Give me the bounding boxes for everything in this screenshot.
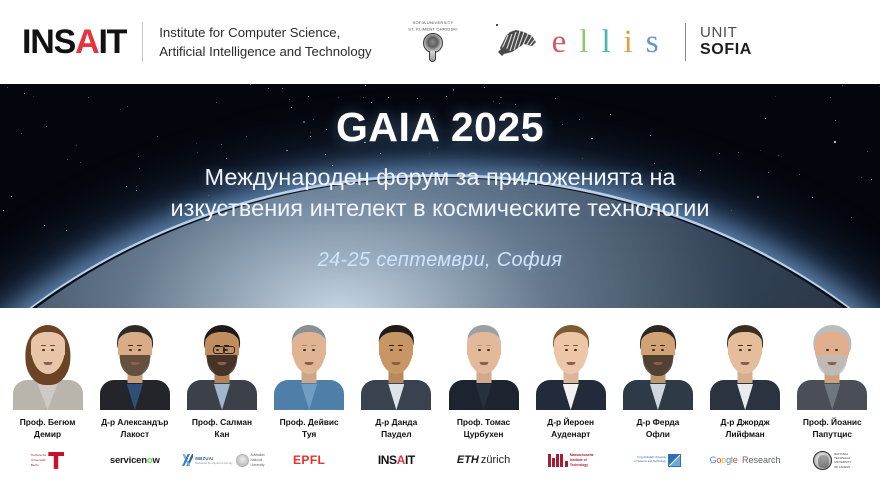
speaker-affiliations: MBZUAIMohamed bin Zayed UniversityAustra…	[179, 447, 265, 473]
speaker-photo	[620, 314, 696, 410]
event-subtitle: Международен форум за приложенията на из…	[0, 162, 880, 224]
speaker-photo	[533, 314, 609, 410]
ellis-logo: e l l i s	[490, 22, 659, 62]
speaker-name: Проф. Йоанис Папутцис	[803, 416, 862, 440]
insait-wordmark-part1: INS	[22, 23, 75, 61]
speaker-name: Д-р Джордж Лийфман	[721, 416, 770, 440]
speaker-affiliations: INSAIT	[353, 447, 439, 473]
ellis-letter-1: l	[579, 26, 588, 59]
speaker-photo	[10, 314, 86, 410]
speaker-name: Проф. Салман Кан	[192, 416, 252, 440]
header-logo-bar: INSAIT Institute for Computer Science, A…	[0, 0, 880, 84]
portrait-illustration	[446, 314, 522, 410]
portrait-illustration	[707, 314, 783, 410]
speaker-affiliations: King Abdullah Universityof Science and T…	[615, 447, 701, 473]
affiliation-logo-anu: AustralianNationalUniversity	[236, 453, 265, 467]
portrait-illustration	[271, 314, 347, 410]
speaker-name: Д-р Данда Паудел	[375, 416, 417, 440]
portrait-illustration	[794, 314, 870, 410]
affiliation-logo-servicenow: servicenow	[110, 455, 160, 466]
event-title: GAIA 2025	[0, 104, 880, 151]
insait-wordmark: INSAIT	[22, 25, 126, 59]
ellis-letter-3: i	[624, 26, 633, 59]
portrait-illustration	[358, 314, 434, 410]
unit-sofia-logo: UNIT SOFIA	[685, 23, 752, 61]
portrait-illustration	[620, 314, 696, 410]
speaker-name: Проф. Бегюм Демир	[20, 416, 76, 440]
speaker-affiliations: servicenow	[92, 447, 178, 473]
affiliation-logo-google: GoogleResearch	[710, 455, 781, 465]
ellis-wordmark: e l l i s	[552, 26, 659, 59]
insait-tagline: Institute for Computer Science, Artifici…	[159, 23, 371, 61]
speaker-photo	[446, 314, 522, 410]
speaker-name: Проф. Дейвис Туя	[280, 416, 339, 440]
sofia-university-logo: SOFIA UNIVERSITY ST. KLIMENT OHRIDSKI	[402, 21, 464, 63]
speaker-card: Д-р Джордж ЛийфманGoogleResearch	[702, 308, 789, 494]
sofia-university-name: SOFIA UNIVERSITY ST. KLIMENT OHRIDSKI	[408, 21, 457, 33]
insait-wordmark-part3: IT	[98, 23, 126, 61]
affiliation-logo-epfl: EPFL	[293, 453, 325, 467]
speaker-card: Д-р Данда ПауделINSAIT	[353, 308, 440, 494]
speaker-row: Проф. Бегюм ДемирTechnischeUniversitätBe…	[0, 308, 880, 494]
speaker-photo	[358, 314, 434, 410]
event-poster: INSAIT Institute for Computer Science, A…	[0, 0, 880, 494]
event-banner: GAIA 2025 Международен форум за приложен…	[0, 84, 880, 308]
ellis-letter-0: e	[552, 26, 567, 59]
speaker-card: Проф. Бегюм ДемирTechnischeUniversitätBe…	[4, 308, 91, 494]
speaker-card: Проф. Йоанис ПапутцисNATIONALTECHNICALUN…	[789, 308, 876, 494]
banner-text-block: GAIA 2025 Международен форум за приложен…	[0, 84, 880, 308]
portrait-illustration	[10, 314, 86, 410]
affiliation-logo-eth: ETHzürich	[457, 454, 510, 466]
speaker-card: Д-р Йероен Ауденарт MassachusettsInstitu…	[527, 308, 614, 494]
speaker-affiliations: GoogleResearch	[702, 447, 788, 473]
unit-label-line2: SOFIA	[700, 41, 752, 60]
portrait-illustration	[97, 314, 173, 410]
speaker-affiliations: MassachusettsInstitute ofTechnology	[528, 447, 614, 473]
speaker-name: Д-р Ферда Офли	[636, 416, 679, 440]
speaker-affiliations: ETHzürich	[441, 447, 527, 473]
insait-brand: INSAIT Institute for Computer Science, A…	[22, 22, 372, 62]
speaker-card: Проф. Томас ЦурбухенETHzürich	[440, 308, 527, 494]
speaker-card: Д-р Ферда ОфлиKing Abdullah Universityof…	[614, 308, 701, 494]
ellis-letter-2: l	[601, 26, 610, 59]
speaker-card: Проф. Салман Кан MBZUAIMohamed bin Zayed…	[178, 308, 265, 494]
affiliation-logo-ntua: NATIONALTECHNICALUNIVERSITYOF ATHENS	[813, 451, 851, 470]
europe-map-icon	[490, 22, 546, 62]
affiliation-logo-kaust: King Abdullah Universityof Science and T…	[634, 454, 681, 467]
speaker-card: Д-р Александър Лакостservicenow	[91, 308, 178, 494]
header-divider	[142, 22, 143, 62]
portrait-illustration	[533, 314, 609, 410]
speaker-name: Д-р Йероен Ауденарт	[547, 416, 594, 440]
ellis-letter-4: s	[646, 26, 659, 59]
affiliation-logo-insait: INSAIT	[378, 453, 415, 467]
speaker-card: Проф. Дейвис ТуяEPFL	[266, 308, 353, 494]
affiliation-logo-mit: MassachusettsInstitute ofTechnology	[548, 453, 594, 467]
event-date-location: 24-25 септември, София	[0, 249, 880, 272]
speaker-affiliations: EPFL	[266, 447, 352, 473]
sofia-university-seal-icon	[420, 33, 446, 63]
speaker-photo	[184, 314, 260, 410]
speaker-photo	[271, 314, 347, 410]
portrait-illustration	[184, 314, 260, 410]
insait-wordmark-accent: A	[75, 23, 98, 61]
speaker-photo	[97, 314, 173, 410]
unit-label-line1: UNIT	[700, 24, 752, 42]
speaker-name: Д-р Александър Лакост	[101, 416, 168, 440]
affiliation-logo-mbzuai: MBZUAIMohamed bin Zayed University	[179, 454, 232, 466]
speaker-affiliations: TechnischeUniversitätBerlin	[5, 447, 91, 473]
speaker-affiliations: NATIONALTECHNICALUNIVERSITYOF ATHENS	[789, 447, 875, 473]
speaker-photo	[794, 314, 870, 410]
speaker-photo	[707, 314, 783, 410]
speaker-name: Проф. Томас Цурбухен	[457, 416, 510, 440]
affiliation-logo-tu-berlin: TechnischeUniversitätBerlin	[31, 452, 64, 469]
unit-divider	[685, 23, 686, 61]
